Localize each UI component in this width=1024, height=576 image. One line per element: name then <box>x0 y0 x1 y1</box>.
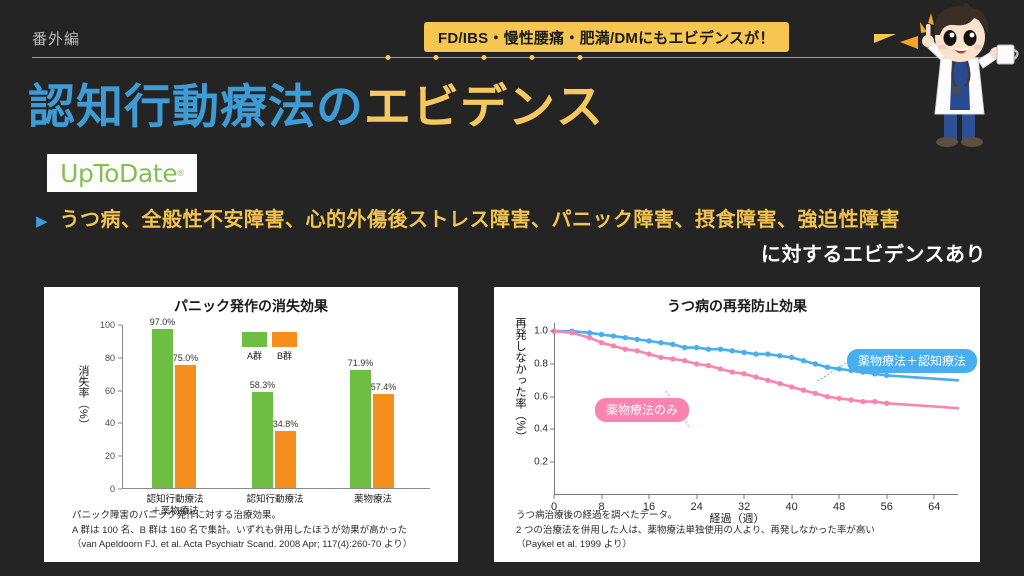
legend-label-a: A群 <box>242 349 267 362</box>
title-accent-char-0: エ <box>364 68 412 137</box>
series-callout-combined: 薬物療法＋認知療法 <box>847 349 977 373</box>
line-marker-1-26 <box>872 399 877 404</box>
bar-ytick-mark-100 <box>118 325 122 326</box>
line-marker-1-3 <box>599 340 604 345</box>
bullet-item: ▶ うつ病、全般性不安障害、心的外傷後ストレス障害、パニック障害、摂食障害、強迫… <box>36 203 900 232</box>
bar-ytick-label-20: 20 <box>105 451 115 461</box>
bar-category-label-2-0: 薬物療法 <box>354 494 392 506</box>
line-marker-0-6 <box>635 337 640 342</box>
bar-x-axis <box>122 488 430 489</box>
line-marker-0-14 <box>730 348 735 353</box>
legend-swatch-icon-b <box>272 332 297 347</box>
title-accent-char-2: デ <box>460 68 508 137</box>
bar-B群-1: 34.8% <box>275 431 296 488</box>
registered-trademark-icon: ® <box>177 168 184 178</box>
bar-ytick-mark-0 <box>118 489 122 490</box>
line-marker-0-3 <box>599 332 604 337</box>
line-marker-0-16 <box>753 351 758 356</box>
slide-kicker: 番外編 <box>32 28 80 49</box>
page-title-accent: エビデンス <box>364 80 604 133</box>
uptodate-logo-text: UpToDate <box>60 159 177 188</box>
chart-title-panic: パニック発作の消失効果 <box>44 296 458 316</box>
line-marker-1-15 <box>741 371 746 376</box>
line-marker-1-7 <box>646 351 651 356</box>
line-marker-1-23 <box>837 396 842 401</box>
line-ytick-label-0.8: 0.8 <box>534 358 548 369</box>
line-marker-1-11 <box>694 361 699 366</box>
line-marker-1-16 <box>753 374 758 379</box>
slide-root: 番外編 FD/IBS・慢性腰痛・肥満/DMにもエビデンスが！ 認知行動療法のエビ… <box>0 0 1024 576</box>
chart-panel-panic: パニック発作の消失効果 消失率（%） 02040608010097.0%75.0… <box>44 287 458 562</box>
line-marker-0-12 <box>706 347 711 352</box>
bar-category-2: 薬物療法 <box>354 494 392 506</box>
line-marker-1-4 <box>611 343 616 348</box>
line-ytick-mark-1.0 <box>550 331 554 332</box>
line-ytick-mark-0.4 <box>550 429 554 430</box>
line-marker-0-15 <box>741 350 746 355</box>
line-ytick-label-0.2: 0.2 <box>534 457 548 468</box>
bar-A群-1: 58.3% <box>252 392 273 488</box>
bar-B群-2: 57.4% <box>373 394 394 488</box>
bar-ytick-mark-60 <box>118 390 122 391</box>
bar-ytick-label-80: 80 <box>105 353 115 363</box>
line-marker-1-9 <box>670 356 675 361</box>
line-marker-0-7 <box>646 338 651 343</box>
line-xtick-mark-40 <box>791 495 792 499</box>
caption-panic-line-2: A 群は 100 名、B 群は 160 名で集計。いずれも併用したほうが効果が高… <box>72 524 412 539</box>
legend-swatch-icon-a <box>242 332 267 347</box>
bar-value-label-B群-2: 57.4% <box>371 382 397 392</box>
line-marker-0-13 <box>718 347 723 352</box>
line-xtick-label-56: 56 <box>881 501 893 513</box>
bar-category-1: 認知行動療法 <box>246 494 303 506</box>
line-marker-1-18 <box>777 381 782 386</box>
caption-relapse-line-3: （Paykel et al. 1999 より） <box>516 538 875 553</box>
doctor-character-illustration <box>900 2 1024 154</box>
line-marker-0-4 <box>611 333 616 338</box>
caption-relapse-line-1: うつ病治療後の経過を調べたデータ。 <box>516 509 875 524</box>
line-marker-1-17 <box>765 378 770 383</box>
line-marker-1-22 <box>825 394 830 399</box>
line-marker-0-18 <box>777 353 782 358</box>
bar-ytick-mark-80 <box>118 357 122 358</box>
line-xtick-mark-0 <box>554 495 555 499</box>
caption-relapse-line-2: 2 つの治療法を併用した人は、薬物療法単独使用の人より、再発しなかった率が高い <box>516 524 875 539</box>
bar-value-label-A群-2: 71.9% <box>348 358 374 368</box>
line-marker-1-14 <box>730 369 735 374</box>
callout-banner-tail <box>874 34 896 43</box>
bar-A群-2: 71.9% <box>350 370 371 488</box>
line-marker-1-6 <box>635 348 640 353</box>
chart-caption-panic: パニック障害のパニック発作に対する治療効果。A 群は 100 名、B 群は 16… <box>72 509 412 553</box>
bar-category-label-1-0: 認知行動療法 <box>246 494 303 506</box>
title-accent-char-3: ン <box>508 68 556 137</box>
line-marker-0-20 <box>801 358 806 363</box>
bar-ytick-label-100: 100 <box>100 320 115 330</box>
line-marker-1-20 <box>801 388 806 393</box>
line-xtick-mark-8 <box>601 495 602 499</box>
bar-ytick-label-0: 0 <box>110 484 115 494</box>
line-marker-1-19 <box>789 384 794 389</box>
bar-ytick-label-60: 60 <box>105 386 115 396</box>
bar-ytick-mark-40 <box>118 423 122 424</box>
line-marker-1-1 <box>569 330 574 335</box>
line-marker-1-5 <box>623 347 628 352</box>
line-marker-1-12 <box>706 363 711 368</box>
bar-y-axis <box>122 325 123 489</box>
bar-B群-0: 75.0% <box>175 365 196 488</box>
line-marker-0-27 <box>884 373 889 378</box>
line-marker-0-22 <box>825 365 830 370</box>
legend-label-b: B群 <box>272 349 297 362</box>
line-marker-0-19 <box>789 355 794 360</box>
chart-title-relapse: うつ病の再発防止効果 <box>494 296 980 316</box>
line-marker-1-25 <box>860 399 865 404</box>
line-xtick-mark-56 <box>886 495 887 499</box>
line-marker-1-27 <box>884 401 889 406</box>
chart-ylabel-relapse: 再発しなかった率（%） <box>508 317 525 442</box>
line-marker-1-21 <box>813 391 818 396</box>
line-marker-0-9 <box>670 342 675 347</box>
callout-banner-text: FD/IBS・慢性腰痛・肥満/DMにもエビデンスが！ <box>438 27 775 48</box>
line-marker-0-10 <box>682 345 687 350</box>
bar-value-label-A群-0: 97.0% <box>150 317 176 327</box>
bar-A群-0: 97.0% <box>152 329 173 488</box>
line-marker-0-8 <box>658 340 663 345</box>
line-ytick-label-0.6: 0.6 <box>534 391 548 402</box>
bar-value-label-B群-0: 75.0% <box>173 353 199 363</box>
legend-item-group-a: A群 <box>242 332 267 362</box>
line-marker-0-2 <box>587 330 592 335</box>
line-ytick-label-1.0: 1.0 <box>534 326 548 337</box>
line-marker-1-2 <box>587 335 592 340</box>
page-title-primary: 認知行動療法の <box>28 80 364 133</box>
chart-legend-panic: A群 B群 <box>242 332 297 362</box>
chart-caption-relapse: うつ病治療後の経過を調べたデータ。2 つの治療法を併用した人は、薬物療法単独使用… <box>516 509 875 553</box>
line-marker-1-13 <box>718 366 723 371</box>
title-accent-char-4: ス <box>556 68 604 137</box>
line-ytick-mark-0.2 <box>550 462 554 463</box>
bar-category-label-0-0: 認知行動療法 <box>146 494 203 506</box>
bar-value-label-B群-1: 34.8% <box>273 419 299 429</box>
bullet-item-label: うつ病、全般性不安障害、心的外傷後ストレス障害、パニック障害、摂食障害、強迫性障… <box>60 203 901 232</box>
uptodate-logo: UpToDate® <box>47 154 197 192</box>
line-marker-0-21 <box>813 361 818 366</box>
bar-ytick-mark-20 <box>118 456 122 457</box>
triangle-bullet-icon: ▶ <box>36 214 48 229</box>
line-marker-1-10 <box>682 358 687 363</box>
line-marker-1-8 <box>658 355 663 360</box>
chart-panel-relapse: うつ病の再発防止効果 再発しなかった率（%） 経過（週） 0.20.40.60.… <box>494 287 980 562</box>
line-xtick-mark-16 <box>649 495 650 499</box>
line-marker-1-24 <box>848 397 853 402</box>
line-xtick-mark-64 <box>934 495 935 499</box>
bar-ytick-label-40: 40 <box>105 418 115 428</box>
series-callout-medication: 薬物療法のみ <box>595 398 689 422</box>
caption-panic-line-3: （van Apeldoorn FJ. et al. Acta Psychiatr… <box>72 538 412 553</box>
header-divider <box>32 57 992 58</box>
bar-value-label-A群-1: 58.3% <box>250 380 276 390</box>
line-xtick-mark-48 <box>839 495 840 499</box>
chart-ylabel-panic: 消失率（%） <box>70 365 88 430</box>
page-title: 認知行動療法のエビデンス <box>28 68 604 137</box>
line-ytick-label-0.4: 0.4 <box>534 424 548 435</box>
title-accent-char-1: ビ <box>412 68 460 137</box>
line-xtick-mark-24 <box>696 495 697 499</box>
caption-panic-line-1: パニック障害のパニック発作に対する治療効果。 <box>72 509 412 524</box>
line-marker-0-11 <box>694 345 699 350</box>
callout-banner: FD/IBS・慢性腰痛・肥満/DMにもエビデンスが！ <box>424 22 789 52</box>
line-ytick-mark-0.6 <box>550 396 554 397</box>
line-xtick-mark-32 <box>744 495 745 499</box>
line-marker-0-17 <box>765 351 770 356</box>
line-marker-0-5 <box>623 335 628 340</box>
legend-item-group-b: B群 <box>272 332 297 362</box>
line-marker-0-23 <box>837 366 842 371</box>
line-xtick-label-64: 64 <box>928 501 940 513</box>
bullet-continuation-label: に対するエビデンスあり <box>761 238 986 267</box>
line-ytick-mark-0.8 <box>550 363 554 364</box>
